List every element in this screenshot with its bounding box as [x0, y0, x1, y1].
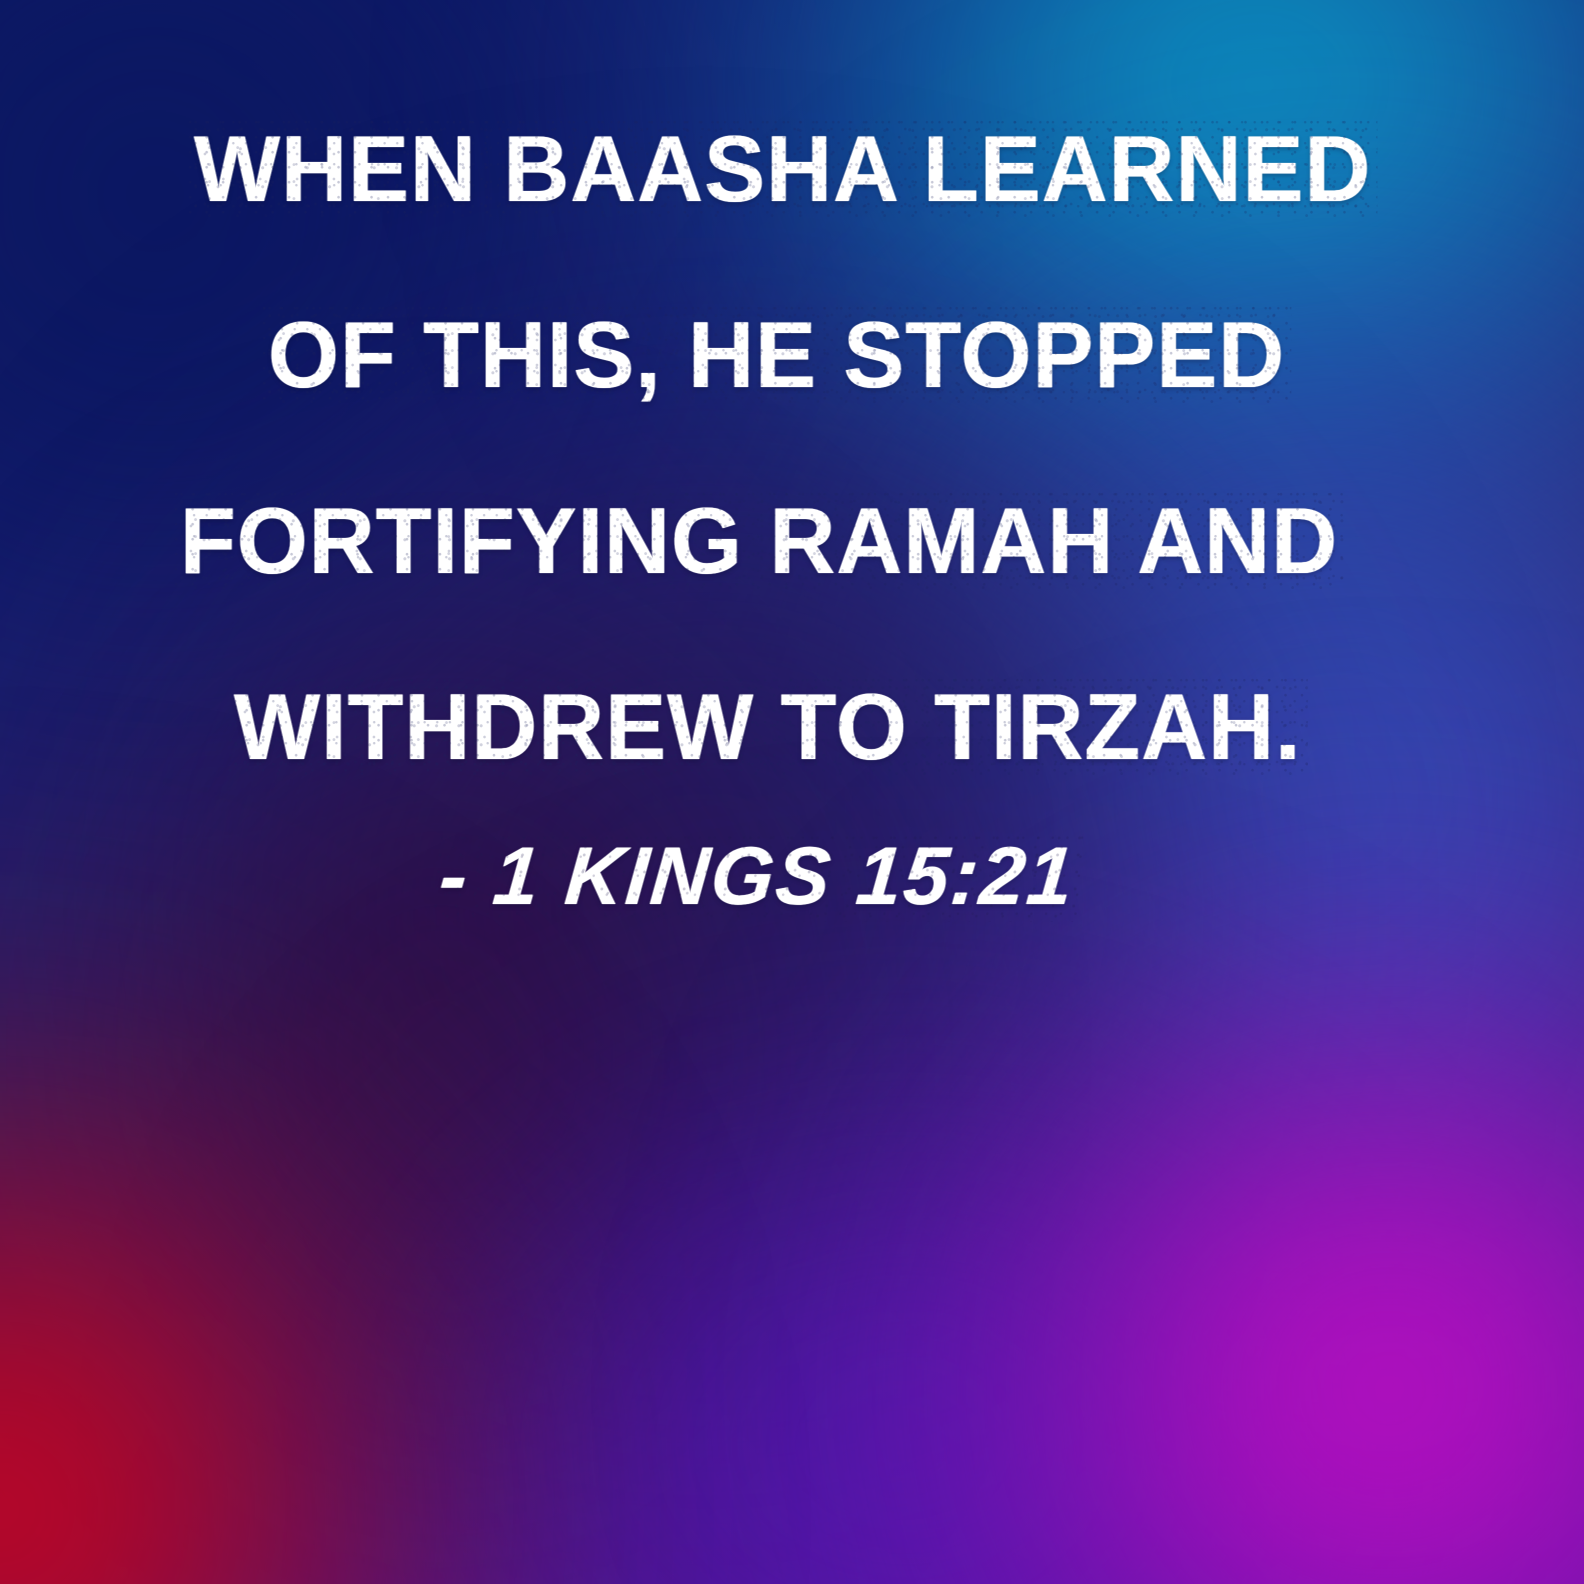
verse-line-2: OF THIS, HE STOPPED	[268, 308, 1285, 402]
verse-text-block: WHEN BAASHA LEARNED OF THIS, HE STOPPED …	[0, 0, 1584, 1584]
verse-card: WHEN BAASHA LEARNED OF THIS, HE STOPPED …	[0, 0, 1584, 1584]
verse-line-1: WHEN BAASHA LEARNED	[194, 122, 1371, 216]
verse-line-3: FORTIFYING RAMAH AND	[180, 494, 1338, 588]
verse-citation: - 1 KINGS 15:21	[436, 836, 1078, 918]
verse-line-4: WITHDREW TO TIRZAH.	[234, 680, 1302, 774]
